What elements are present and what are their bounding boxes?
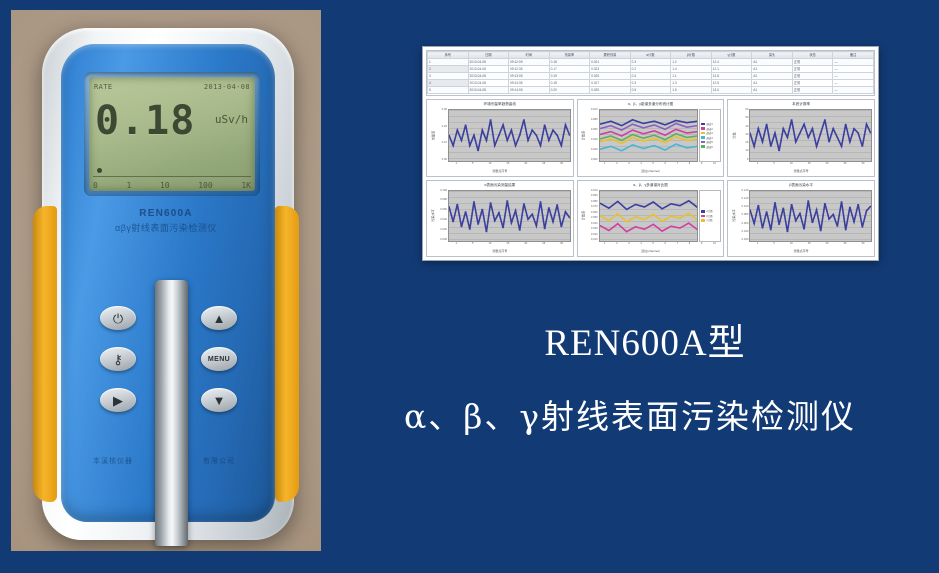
chart-x-axis-label: 测量点序号 bbox=[429, 249, 571, 255]
chart-x-tick: 10 bbox=[790, 242, 793, 249]
chart-y-tick: 0.090 bbox=[591, 195, 598, 198]
chart-data-point bbox=[473, 201, 475, 202]
chart-data-point bbox=[837, 225, 839, 226]
chart-data-point bbox=[560, 226, 562, 227]
chart-data-point bbox=[608, 230, 610, 231]
chart-title: 本底计数率 bbox=[730, 102, 872, 109]
chart-data-point bbox=[653, 145, 655, 146]
chart-data-point bbox=[519, 229, 521, 230]
manufacturer-text-left: 本溪核仪器 bbox=[93, 456, 133, 466]
product-model-title: REN600A型 bbox=[330, 312, 930, 366]
chart-data-point bbox=[664, 135, 666, 136]
chart-legend-swatch bbox=[701, 219, 705, 222]
chart-y-tick: 0.100 bbox=[742, 206, 749, 209]
chart-data-point bbox=[608, 207, 610, 208]
manufacturer-text-right: 有限公司 bbox=[203, 456, 235, 466]
chart-legend-item: 通道3 bbox=[701, 131, 719, 135]
menu-button[interactable]: MENU bbox=[201, 347, 237, 371]
chart-data-point bbox=[514, 145, 516, 146]
chart-data-point bbox=[456, 130, 458, 131]
chart-canvas bbox=[448, 190, 571, 243]
table-cell: 09:14:05 bbox=[509, 87, 550, 94]
chart-y-ticks: 0.1000.0800.0600.0400.0200.000 bbox=[436, 190, 448, 243]
chart-data-point bbox=[795, 220, 797, 221]
chart-data-point bbox=[620, 143, 622, 144]
chart-x-ticks: 12345678910 bbox=[580, 162, 722, 169]
chart-data-point bbox=[652, 223, 654, 224]
chart-plot-area: 剂量率0.300.200.100.00 bbox=[429, 109, 571, 162]
chart-data-point bbox=[610, 136, 612, 137]
chart-data-point bbox=[774, 133, 776, 134]
chart-y-axis-label-text: 污染水平 bbox=[731, 209, 736, 222]
table-header-cell: 剂量率 bbox=[549, 52, 590, 59]
device-model-description: αβγ射线表面污染检测仪 bbox=[61, 221, 271, 234]
chart-data-point bbox=[620, 130, 622, 131]
table-cell: 正常 bbox=[792, 59, 833, 66]
table-header-cell: 时间 bbox=[509, 52, 550, 59]
chart-data-point bbox=[832, 213, 834, 214]
chart-x-tick: 2 bbox=[616, 162, 617, 169]
chart-data-point bbox=[494, 220, 496, 221]
table-cell: 09:12:05 bbox=[509, 59, 550, 66]
table-cell: 3 bbox=[428, 73, 469, 80]
lcd-bargraph-marker bbox=[97, 168, 102, 173]
table-cell: 正常 bbox=[792, 87, 833, 94]
device-grip-right bbox=[275, 206, 299, 502]
up-button[interactable]: ▲ bbox=[201, 306, 237, 330]
device-model-plate: REN600A αβγ射线表面污染检测仪 bbox=[61, 208, 271, 234]
table-header-cell: 备注 bbox=[833, 52, 874, 59]
chart-panel: 环境剂量率趋势曲线剂量率0.300.200.100.00151015202530… bbox=[426, 99, 574, 177]
chart-data-point bbox=[661, 230, 663, 231]
table-cell: 0.2 bbox=[630, 66, 671, 73]
chart-data-point bbox=[608, 220, 610, 221]
chart-y-axis-label: 计数率 bbox=[580, 109, 587, 162]
chart-data-point bbox=[535, 225, 537, 226]
chart-x-tick: 20 bbox=[826, 242, 829, 249]
chart-data-point bbox=[845, 229, 847, 230]
chart-series-line bbox=[750, 120, 871, 151]
chart-y-tick: 0.140 bbox=[742, 190, 749, 193]
lcd-status-left: RATE bbox=[94, 83, 112, 91]
chart-data-point bbox=[824, 203, 826, 204]
lcd-scale-2: 10 bbox=[160, 181, 170, 190]
chart-data-point bbox=[675, 123, 677, 124]
chart-y-tick: 0.060 bbox=[742, 223, 749, 226]
chart-data-point bbox=[539, 145, 541, 146]
chart-y-ticks: 0.1000.0800.0600.0400.0200.000 bbox=[587, 109, 599, 162]
chart-legend-swatch bbox=[701, 123, 705, 126]
chart-plot-area: 污染水平0.1400.1200.1000.0800.0600.0400.020 bbox=[730, 190, 872, 243]
chart-y-tick: 0.080 bbox=[591, 119, 598, 122]
lock-button[interactable]: ⚷ bbox=[100, 347, 136, 371]
chart-legend-item: β计数 bbox=[701, 214, 719, 218]
chart-y-tick: 0.020 bbox=[591, 149, 598, 152]
chart-legend-item: 通道5 bbox=[701, 140, 719, 144]
chart-y-axis-label: 污染水平 bbox=[730, 190, 737, 243]
chart-data-point bbox=[653, 121, 655, 122]
chart-legend-swatch bbox=[701, 127, 705, 130]
table-cell: 0.025 bbox=[590, 73, 631, 80]
chart-legend: α计数β计数γ计数 bbox=[699, 190, 721, 243]
chart-x-tick: 25 bbox=[542, 162, 545, 169]
chart-data-point bbox=[783, 207, 785, 208]
table-header-cell: 序号 bbox=[428, 52, 469, 59]
chart-series-line bbox=[600, 213, 698, 222]
chart-plot-area: 计数率0.1000.0900.0800.0700.0600.0500.0400.… bbox=[580, 190, 722, 243]
chart-data-point bbox=[770, 229, 772, 230]
chart-data-point bbox=[452, 221, 454, 222]
chart-panel: α、β、γ多道谱对比图计数率0.1000.0900.0800.0700.0600… bbox=[577, 180, 725, 258]
chart-data-point bbox=[679, 227, 681, 228]
chart-data-point bbox=[753, 223, 755, 224]
chart-data-point bbox=[643, 218, 645, 219]
table-row[interactable]: 42013-04-0809:13:350.180.0270.31.312.5A1… bbox=[428, 80, 874, 87]
chart-data-point bbox=[753, 146, 755, 147]
chart-x-tick: 5 bbox=[652, 242, 653, 249]
table-header-row: 序号日期时间剂量率累积剂量α计数β计数γ计数探头状态备注 bbox=[428, 52, 874, 59]
chart-x-ticks: 151015202530 bbox=[429, 242, 571, 249]
chart-data-point bbox=[625, 208, 627, 209]
chart-data-point bbox=[498, 135, 500, 136]
chart-data-point bbox=[631, 124, 633, 125]
chart-x-tick: 1 bbox=[604, 242, 605, 249]
chart-data-point bbox=[828, 141, 830, 142]
table-cell: 0.023 bbox=[590, 66, 631, 73]
chart-data-point bbox=[631, 137, 633, 138]
chart-y-tick: 0.30 bbox=[442, 109, 447, 112]
table-cell: 1.2 bbox=[671, 59, 712, 66]
chart-y-tick: 10 bbox=[745, 150, 748, 153]
start-button[interactable]: ▶ bbox=[100, 388, 136, 412]
table-row[interactable]: 32013-04-0809:13:050.190.0250.41.112.8A1… bbox=[428, 73, 874, 80]
chart-x-axis-label: 测量点序号 bbox=[730, 169, 872, 175]
chart-legend-item: 通道4 bbox=[701, 136, 719, 140]
table-cell: — bbox=[833, 87, 874, 94]
down-button[interactable]: ▼ bbox=[201, 388, 237, 412]
chart-title: α、β、γ多道谱对比图 bbox=[580, 183, 722, 190]
table-cell: 正常 bbox=[792, 66, 833, 73]
lcd-scale-4: 1K bbox=[241, 181, 251, 190]
chart-data-point bbox=[519, 135, 521, 136]
chart-data-point bbox=[664, 129, 666, 130]
chart-data-point bbox=[620, 125, 622, 126]
chart-x-tick: 1 bbox=[757, 162, 758, 169]
chart-x-tick: 15 bbox=[506, 162, 509, 169]
table-header-cell: α计数 bbox=[630, 52, 671, 59]
chart-data-point bbox=[620, 150, 622, 151]
table-cell: 0.029 bbox=[590, 87, 631, 94]
table-cell: 1 bbox=[428, 59, 469, 66]
chart-x-tick: 5 bbox=[652, 162, 653, 169]
chart-data-point bbox=[452, 145, 454, 146]
chart-title: β表面污染水平 bbox=[730, 183, 872, 190]
chart-data-point bbox=[625, 231, 627, 232]
chart-x-tick: 10 bbox=[713, 242, 716, 249]
chart-data-point bbox=[686, 122, 688, 123]
chart-data-point bbox=[642, 127, 644, 128]
chart-data-point bbox=[485, 140, 487, 141]
chart-data-point bbox=[643, 206, 645, 207]
chart-y-tick: 0.030 bbox=[591, 228, 598, 231]
table-cell: 12.1 bbox=[711, 66, 752, 73]
chart-data-point bbox=[610, 138, 612, 139]
chart-series-line bbox=[600, 120, 698, 126]
chart-x-tick: 20 bbox=[524, 162, 527, 169]
chart-x-tick: 15 bbox=[506, 242, 509, 249]
chart-x-tick: 8 bbox=[689, 242, 690, 249]
chart-data-point bbox=[862, 146, 864, 147]
chart-data-point bbox=[514, 210, 516, 211]
chart-x-tick: 15 bbox=[808, 242, 811, 249]
chart-legend-item: 通道1 bbox=[701, 122, 719, 126]
chart-data-point bbox=[617, 223, 619, 224]
lcd-bezel: RATE 2013-04-08 0.18 uSv/h 0 1 10 100 1K bbox=[84, 72, 260, 196]
table-cell: 1.5 bbox=[671, 87, 712, 94]
chart-data-point bbox=[675, 133, 677, 134]
chart-data-point bbox=[862, 226, 864, 227]
chart-data-point bbox=[642, 133, 644, 134]
chart-data-point bbox=[686, 140, 688, 141]
chart-panel: 本底计数率计数6050403020100151015202530测量点序号 bbox=[727, 99, 875, 177]
table-cell: 0.17 bbox=[549, 66, 590, 73]
chart-x-tick: 8 bbox=[689, 162, 690, 169]
lcd-scale-3: 100 bbox=[198, 181, 212, 190]
chart-data-point bbox=[787, 231, 789, 232]
chart-y-tick: 50 bbox=[745, 117, 748, 120]
chart-data-point bbox=[866, 210, 868, 211]
power-icon: ⏻ bbox=[113, 312, 123, 325]
chart-data-point bbox=[643, 228, 645, 229]
chart-x-tick: 7 bbox=[677, 242, 678, 249]
chart-data-point bbox=[661, 208, 663, 209]
table-cell: 0.5 bbox=[630, 87, 671, 94]
chart-series-line bbox=[600, 123, 698, 130]
chart-data-point bbox=[634, 216, 636, 217]
chart-data-point bbox=[494, 145, 496, 146]
chart-data-point bbox=[849, 206, 851, 207]
chart-data-point bbox=[653, 138, 655, 139]
chart-data-point bbox=[686, 133, 688, 134]
measurement-data-grid[interactable]: 序号日期时间剂量率累积剂量α计数β计数γ计数探头状态备注 12013-04-08… bbox=[426, 50, 875, 96]
data-table: 序号日期时间剂量率累积剂量α计数β计数γ计数探头状态备注 12013-04-08… bbox=[427, 51, 874, 94]
table-cell: 0.4 bbox=[630, 73, 671, 80]
chart-data-point bbox=[857, 133, 859, 134]
table-cell: A1 bbox=[752, 80, 793, 87]
chart-data-point bbox=[778, 150, 780, 151]
table-header-cell: γ计数 bbox=[711, 52, 752, 59]
lcd-status-right: 2013-04-08 bbox=[204, 83, 250, 91]
table-cell: 0.3 bbox=[630, 80, 671, 87]
chart-x-tick: 9 bbox=[701, 162, 702, 169]
chart-data-point bbox=[531, 130, 533, 131]
table-header-cell: 探头 bbox=[752, 52, 793, 59]
chart-x-tick: 5 bbox=[773, 162, 774, 169]
chart-data-point bbox=[642, 148, 644, 149]
device-grip-left bbox=[33, 206, 57, 502]
chart-data-point bbox=[845, 124, 847, 125]
chart-data-point bbox=[552, 221, 554, 222]
chart-data-point bbox=[548, 140, 550, 141]
table-row[interactable]: 12013-04-0809:12:050.180.0210.31.212.4A1… bbox=[428, 59, 874, 66]
chart-data-point bbox=[610, 131, 612, 132]
chart-x-ticks: 151015202530 bbox=[730, 162, 872, 169]
table-header-cell: 状态 bbox=[792, 52, 833, 59]
chart-title: α表面污染测量结果 bbox=[429, 183, 571, 190]
chart-y-tick: 0.020 bbox=[440, 229, 447, 232]
chart-legend: 通道1通道2通道3通道4通道5通道6 bbox=[699, 109, 721, 162]
chart-y-tick: 0.080 bbox=[440, 199, 447, 202]
chart-data-point bbox=[465, 211, 467, 212]
chart-data-point bbox=[449, 206, 450, 207]
triangle-down-icon: ▼ bbox=[213, 394, 226, 407]
chart-x-ticks: 151015202530 bbox=[730, 242, 872, 249]
chart-x-tick: 5 bbox=[472, 162, 473, 169]
chart-x-tick: 25 bbox=[542, 242, 545, 249]
table-cell: — bbox=[833, 73, 874, 80]
chart-y-tick: 40 bbox=[745, 126, 748, 129]
chart-y-ticks: 0.1400.1200.1000.0800.0600.0400.020 bbox=[737, 190, 749, 243]
chart-y-tick: 0.20 bbox=[442, 126, 447, 129]
chart-data-point bbox=[766, 124, 768, 125]
chart-data-point bbox=[469, 228, 471, 229]
chart-data-point bbox=[688, 212, 690, 213]
chart-data-point bbox=[828, 218, 830, 219]
chart-x-tick: 6 bbox=[665, 162, 666, 169]
chart-data-point bbox=[803, 228, 805, 229]
table-cell: 2 bbox=[428, 66, 469, 73]
chart-data-point bbox=[791, 119, 793, 120]
power-button[interactable]: ⏻ bbox=[100, 306, 136, 330]
chart-data-point bbox=[853, 221, 855, 222]
chart-x-tick: 10 bbox=[488, 162, 491, 169]
chart-data-point bbox=[620, 140, 622, 141]
chart-y-tick: 0.020 bbox=[591, 234, 598, 237]
lcd-scale-0: 0 bbox=[93, 181, 98, 190]
chart-data-point bbox=[799, 133, 801, 134]
chart-legend-swatch bbox=[701, 145, 705, 148]
chart-x-tick: 4 bbox=[640, 162, 641, 169]
key-icon: ⚷ bbox=[113, 353, 123, 366]
chart-data-point bbox=[849, 141, 851, 142]
chart-data-point bbox=[832, 128, 834, 129]
chart-data-point bbox=[799, 213, 801, 214]
chart-data-point bbox=[556, 204, 558, 205]
chart-data-point bbox=[803, 124, 805, 125]
chart-data-point bbox=[617, 213, 619, 214]
chart-y-axis-label: 污染水平 bbox=[429, 190, 436, 243]
chart-series-line bbox=[449, 200, 570, 231]
chart-legend-label: γ计数 bbox=[706, 218, 712, 222]
chart-legend-item: γ计数 bbox=[701, 218, 719, 222]
chart-legend-label: 通道5 bbox=[706, 140, 712, 144]
table-cell: 2013-04-08 bbox=[468, 80, 509, 87]
chart-data-point bbox=[527, 218, 529, 219]
chart-data-point bbox=[762, 227, 764, 228]
chart-data-point bbox=[490, 202, 492, 203]
chart-data-point bbox=[837, 137, 839, 138]
chart-x-tick: 30 bbox=[862, 242, 865, 249]
chart-y-tick: 0.040 bbox=[742, 231, 749, 234]
chart-data-point bbox=[652, 201, 654, 202]
chart-data-point bbox=[670, 225, 672, 226]
chart-data-point bbox=[812, 222, 814, 223]
chart-y-tick: 20 bbox=[745, 142, 748, 145]
chart-data-point bbox=[556, 135, 558, 136]
table-cell: A1 bbox=[752, 66, 793, 73]
table-cell: 12.4 bbox=[711, 59, 752, 66]
table-cell: 正常 bbox=[792, 73, 833, 80]
chart-data-point bbox=[631, 130, 633, 131]
chart-x-axis-label: 测量点序号 bbox=[429, 169, 571, 175]
chart-data-point bbox=[510, 130, 512, 131]
chart-y-tick: 0.10 bbox=[442, 142, 447, 145]
chart-x-tick: 1 bbox=[757, 242, 758, 249]
chart-data-point bbox=[791, 203, 793, 204]
chart-canvas bbox=[599, 190, 699, 243]
chart-data-point bbox=[631, 119, 633, 120]
chart-data-point bbox=[634, 226, 636, 227]
chart-data-point bbox=[866, 124, 868, 125]
chart-x-tick: 3 bbox=[628, 162, 629, 169]
chart-x-tick: 10 bbox=[488, 242, 491, 249]
product-photo: RATE 2013-04-08 0.18 uSv/h 0 1 10 100 1K… bbox=[11, 10, 321, 551]
chart-data-point bbox=[841, 146, 843, 147]
chart-y-tick: 0.050 bbox=[591, 217, 598, 220]
chart-data-point bbox=[642, 141, 644, 142]
chart-data-point bbox=[523, 119, 525, 120]
chart-data-point bbox=[653, 124, 655, 125]
chart-data-point bbox=[679, 205, 681, 206]
chart-y-ticks: 0.1000.0900.0800.0700.0600.0500.0400.030… bbox=[587, 190, 599, 243]
device-hand-strap bbox=[155, 280, 188, 546]
chart-panel: α表面污染测量结果污染水平0.1000.0800.0600.0400.0200.… bbox=[426, 180, 574, 258]
chart-x-axis-label: 道址(channel) bbox=[580, 249, 722, 255]
chart-data-point bbox=[857, 203, 859, 204]
chart-data-point bbox=[490, 119, 492, 120]
chart-panel: β表面污染水平污染水平0.1400.1200.1000.0800.0600.04… bbox=[727, 180, 875, 258]
chart-y-axis-label-text: 污染水平 bbox=[430, 209, 435, 222]
chart-data-point bbox=[460, 226, 462, 227]
chart-series-line bbox=[600, 129, 698, 136]
table-row[interactable]: 22013-04-0809:12:350.170.0230.21.412.1A1… bbox=[428, 66, 874, 73]
table-row[interactable]: 52013-04-0809:14:050.200.0290.51.513.0A1… bbox=[428, 87, 874, 94]
table-cell: 09:13:35 bbox=[509, 80, 550, 87]
chart-x-tick: 1 bbox=[604, 162, 605, 169]
chart-x-tick: 1 bbox=[456, 162, 457, 169]
table-cell: 1.3 bbox=[671, 80, 712, 87]
table-cell: 13.0 bbox=[711, 87, 752, 94]
chart-data-point bbox=[766, 211, 768, 212]
chart-plot-area: 计数率0.1000.0800.0600.0400.0200.000通道1通道2通… bbox=[580, 109, 722, 162]
chart-data-point bbox=[664, 142, 666, 143]
chart-data-point bbox=[460, 140, 462, 141]
chart-data-point bbox=[544, 228, 546, 229]
chart-data-point bbox=[816, 146, 818, 147]
chart-data-point bbox=[664, 124, 666, 125]
table-cell: 2013-04-08 bbox=[468, 73, 509, 80]
chart-data-point bbox=[642, 138, 644, 139]
chart-data-point bbox=[787, 137, 789, 138]
play-icon: ▶ bbox=[113, 394, 123, 407]
chart-data-point bbox=[807, 200, 809, 201]
chart-x-axis-label: 测量点序号 bbox=[730, 249, 872, 255]
chart-data-point bbox=[610, 125, 612, 126]
chart-x-tick: 5 bbox=[472, 242, 473, 249]
chart-data-point bbox=[642, 123, 644, 124]
chart-y-axis-label: 计数 bbox=[730, 109, 737, 162]
chart-y-tick: 0.120 bbox=[742, 198, 749, 201]
